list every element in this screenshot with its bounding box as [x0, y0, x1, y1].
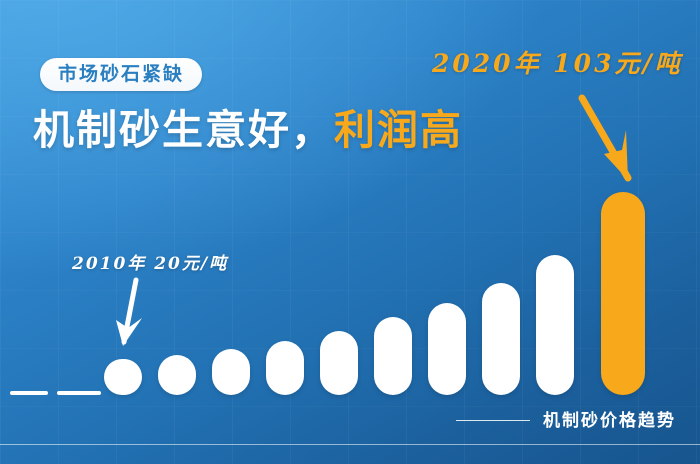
chart-bar [212, 349, 250, 395]
annotation-2020-price: 2020年 103元/吨 [432, 44, 683, 80]
badge-label: 市场砂石紧缺 [58, 65, 184, 84]
chart-bar [320, 331, 358, 395]
chart-bar [536, 255, 574, 395]
footer-divider [0, 444, 700, 445]
annotation-2010-price: 2010年 20元/吨 [72, 249, 228, 274]
poster-canvas: 市场砂石紧缺 机制砂生意好，利润高 2020年 103元/吨 2010年 20元… [0, 0, 700, 464]
down-arrow-icon [104, 276, 164, 360]
chart-bar [104, 359, 142, 395]
chart-bar [57, 391, 101, 395]
chart-caption: 机制砂价格趋势 [543, 412, 676, 429]
chart-bar [374, 317, 412, 395]
headline-accent: 利润高 [334, 107, 463, 153]
page-title: 机制砂生意好，利润高 [33, 108, 463, 153]
caption-rule [456, 420, 530, 421]
headline-main: 机制砂生意好， [33, 107, 334, 153]
chart-bar [482, 283, 520, 395]
chart-bar [601, 192, 645, 395]
chart-caption-group: 机制砂价格趋势 [456, 412, 676, 429]
chart-bar [10, 391, 48, 395]
market-shortage-badge: 市场砂石紧缺 [40, 58, 202, 91]
chart-bar [266, 341, 304, 395]
chart-bar [428, 303, 466, 395]
chart-bar [158, 355, 196, 395]
down-right-arrow-icon [578, 92, 648, 200]
